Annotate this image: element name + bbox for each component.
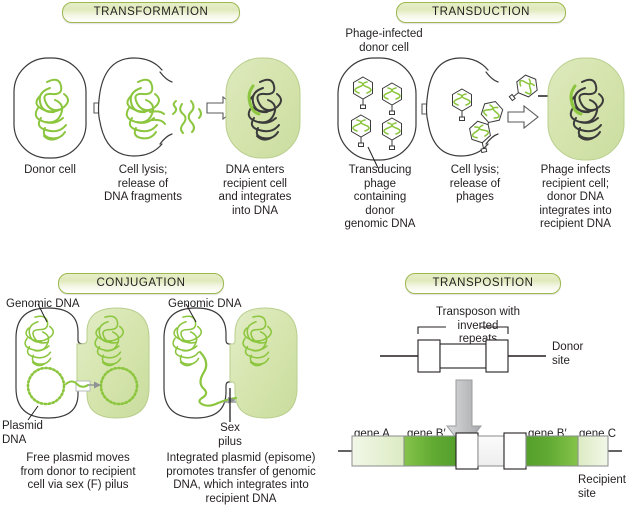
transposon-body	[440, 344, 486, 368]
caption-line: release of	[118, 178, 169, 190]
caption-line: Free plasmid moves	[26, 452, 130, 464]
caption-line: Phage infects	[541, 164, 611, 176]
caption-line: containing	[354, 191, 406, 203]
caption-transducing-phage: Transducing phage containing donor genom…	[322, 164, 438, 232]
caption-line: DNA fragments	[104, 191, 182, 203]
inverted-repeat-right	[486, 340, 508, 372]
process-arrow-2	[508, 106, 538, 128]
label-line: DNA	[2, 434, 26, 446]
panel-transposition: TRANSPOSITION Transposon with inverted r…	[330, 262, 631, 509]
caption-line: donor	[365, 205, 394, 217]
donor-cell-shape	[14, 58, 86, 158]
gene-b-right-segment	[526, 436, 578, 466]
conjugation-graphic	[0, 302, 330, 437]
phage-infected-donor-cell	[338, 58, 416, 168]
caption-line: promotes transfer of genomic	[166, 466, 316, 478]
transposition-graphic	[330, 322, 631, 482]
caption-line: release of	[450, 178, 501, 190]
label-line: Transposon with	[436, 306, 520, 318]
caption-line: recipient DNA	[206, 493, 277, 505]
caption-line: DNA enters	[226, 164, 285, 176]
caption-line: Cell lysis;	[119, 164, 168, 176]
gene-b-left-segment	[404, 436, 456, 466]
transduction-graphic	[316, 0, 631, 165]
gene-a-segment	[352, 436, 404, 466]
phage-icon	[505, 72, 542, 106]
caption-line: donor DNA	[547, 191, 604, 203]
caption-line: cell via sex (F) pilus	[28, 479, 129, 491]
donor-transposon-construct	[380, 340, 546, 372]
label-sex-pilus: Sex pilus	[206, 422, 254, 449]
caption-line: into DNA	[232, 205, 278, 217]
panel-transduction: TRANSDUCTION Phage-infected donor cell	[316, 0, 631, 255]
caption-line: genomic DNA	[345, 218, 416, 230]
caption-line: phages	[456, 191, 494, 203]
caption-line: recipient cell	[223, 178, 287, 190]
dna-fragments	[173, 101, 201, 133]
conjugation-episome-diagram	[164, 304, 297, 422]
caption-line: DNA, which integrates into	[173, 479, 309, 491]
label-line: site	[578, 488, 596, 500]
caption-conjugation-right: Integrated plasmid (episome) promotes tr…	[152, 452, 330, 506]
infecting-phage	[505, 72, 542, 106]
panel-title-conjugation: CONJUGATION	[58, 273, 224, 294]
lysing-cell-shape	[99, 58, 173, 156]
caption-line: integrates into	[539, 205, 611, 217]
label-line: Plasmid	[2, 420, 43, 432]
recipient-cell-shape	[226, 58, 300, 158]
inverted-repeats-bracket	[418, 327, 508, 334]
inverted-repeat-left	[418, 340, 440, 372]
caption-cell-lysis: Cell lysis; release of DNA fragments	[95, 164, 191, 205]
caption-line: from donor to recipient	[20, 466, 135, 478]
conjugation-free-plasmid-diagram	[16, 304, 149, 420]
recipient-cell-shape	[77, 308, 149, 418]
label-plasmid-dna: Plasmid DNA	[2, 420, 43, 447]
inverted-repeat-left	[456, 433, 478, 469]
recipient-dna-bar	[338, 433, 622, 469]
caption-donor-cell: Donor cell	[4, 164, 96, 178]
caption-line: recipient DNA	[540, 218, 611, 230]
gene-c-segment	[578, 436, 608, 466]
panel-transformation: TRANSFORMATION	[0, 0, 315, 255]
transformation-graphic	[0, 0, 315, 165]
lysing-cell-shape	[427, 58, 505, 156]
caption-line: phage	[364, 178, 396, 190]
caption-conjugation-left: Free plasmid moves from donor to recipie…	[2, 452, 154, 493]
caption-line: recipient cell;	[542, 178, 609, 190]
caption-line: and integrates	[219, 191, 292, 203]
caption-cell-lysis-phages: Cell lysis; release of phages	[429, 164, 521, 205]
caption-phage-infects-recipient: Phage infects recipient cell; donor DNA …	[520, 164, 631, 232]
inverted-repeat-right	[504, 433, 526, 469]
panel-conjugation: CONJUGATION Genomic DNA Genomic DNA	[0, 262, 330, 509]
panel-title-transposition: TRANSPOSITION	[405, 273, 561, 294]
caption-line: Cell lysis;	[451, 164, 500, 176]
caption-dna-enters: DNA enters recipient cell and integrates…	[199, 164, 311, 218]
caption-line: Transducing	[349, 164, 412, 176]
caption-line: Integrated plasmid (episome)	[167, 452, 316, 464]
recipient-cell-shape	[548, 58, 624, 160]
label-line: pilus	[218, 436, 242, 448]
label-line: Sex	[220, 422, 240, 434]
